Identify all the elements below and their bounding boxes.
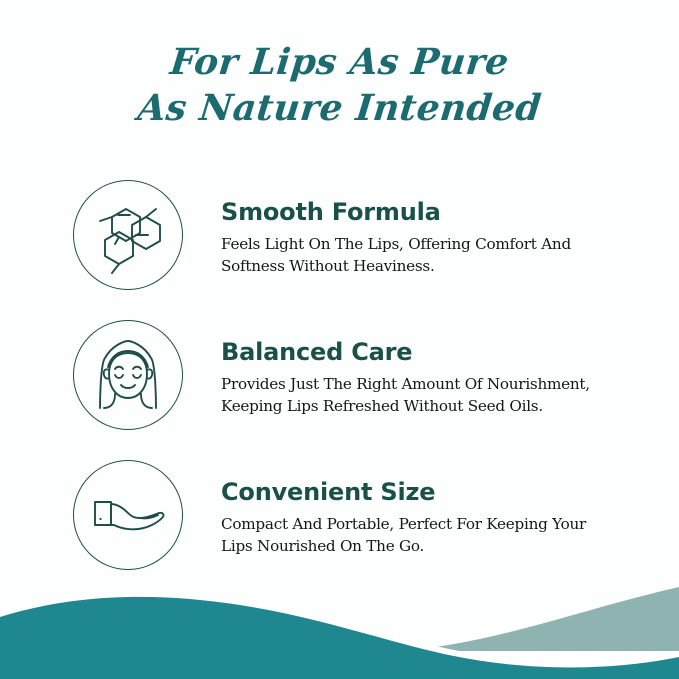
open-hand-icon (73, 460, 183, 570)
feature-title: Convenient Size (221, 478, 621, 506)
feature-item-balanced-care: Balanced Care Provides Just The Right Am… (0, 320, 679, 440)
feature-description-line-1: Compact And Portable, Perfect For Keepin… (221, 513, 621, 535)
wave-secondary-shape (340, 587, 679, 652)
smiling-face-icon (73, 320, 183, 430)
feature-title: Smooth Formula (221, 198, 621, 226)
wave-primary-shape (0, 597, 679, 679)
feature-item-convenient-size: Convenient Size Compact And Portable, Pe… (0, 460, 679, 580)
feature-icon-wrap (73, 460, 183, 570)
page-title-line-1: For Lips As Pure (0, 40, 679, 84)
feature-description: Compact And Portable, Perfect For Keepin… (221, 513, 621, 557)
feature-text-block: Smooth Formula Feels Light On The Lips, … (221, 198, 621, 277)
feature-item-smooth-formula: Smooth Formula Feels Light On The Lips, … (0, 180, 679, 300)
feature-description: Feels Light On The Lips, Offering Comfor… (221, 233, 621, 277)
feature-description-line-1: Provides Just The Right Amount Of Nouris… (221, 373, 621, 395)
infographic-page: For Lips As Pure As Nature Intended (0, 0, 679, 679)
feature-text-block: Convenient Size Compact And Portable, Pe… (221, 478, 621, 557)
molecule-icon (73, 180, 183, 290)
feature-description-line-2: Softness Without Heaviness. (221, 255, 621, 277)
bottom-wave-decoration (0, 569, 679, 679)
feature-title: Balanced Care (221, 338, 621, 366)
page-title: For Lips As Pure As Nature Intended (0, 40, 679, 130)
feature-text-block: Balanced Care Provides Just The Right Am… (221, 338, 621, 417)
feature-description-line-1: Feels Light On The Lips, Offering Comfor… (221, 233, 621, 255)
wave-accent-shape (500, 662, 679, 679)
feature-description-line-2: Keeping Lips Refreshed Without Seed Oils… (221, 395, 621, 417)
feature-description-line-2: Lips Nourished On The Go. (221, 535, 621, 557)
feature-icon-wrap (73, 320, 183, 430)
feature-description: Provides Just The Right Amount Of Nouris… (221, 373, 621, 417)
wave-separator-shape (0, 591, 679, 679)
page-title-line-2: As Nature Intended (0, 86, 679, 130)
feature-icon-wrap (73, 180, 183, 290)
